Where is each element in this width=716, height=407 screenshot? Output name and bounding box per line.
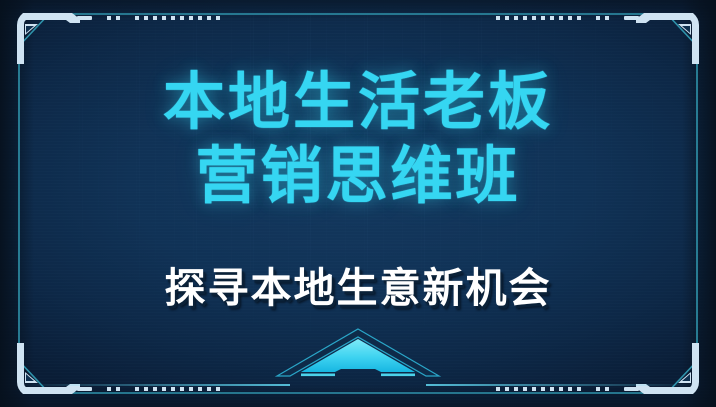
bottom-up-triangle (263, 328, 453, 390)
tick-dot-icon (207, 387, 211, 391)
tick-dot-icon (153, 387, 157, 391)
tick-dot-icon (568, 387, 572, 391)
tick-gap (586, 387, 591, 391)
tick-dot-icon (496, 387, 500, 391)
tick-dash-icon (624, 387, 639, 391)
tick-dot-icon (605, 387, 609, 391)
tick-gap (614, 387, 619, 391)
tick-dot-icon (135, 387, 139, 391)
bracket-shape-icon (630, 337, 702, 399)
tick-dot-icon (116, 387, 120, 391)
poster-title-line-1: 本地生活老板 (0, 66, 716, 138)
poster-canvas: 本地生活老板 营销思维班 探寻本地生意新机会 (0, 0, 716, 407)
tick-row-bottom-left (77, 386, 220, 392)
tick-dot-icon (505, 387, 509, 391)
tick-dot-icon (198, 387, 202, 391)
corner-bracket-bottom-right-icon (630, 337, 702, 399)
tick-gap (125, 387, 130, 391)
tick-row-bottom-right (496, 386, 639, 392)
tick-dot-icon (559, 387, 563, 391)
poster-subtitle: 探寻本地生意新机会 (0, 264, 716, 312)
tick-dash-icon (77, 387, 92, 391)
tick-dot-icon (523, 387, 527, 391)
tick-dot-icon (107, 387, 111, 391)
tick-dot-icon (596, 387, 600, 391)
tick-dot-icon (180, 387, 184, 391)
tick-gap (97, 387, 102, 391)
poster-title-line-2: 营销思维班 (0, 140, 716, 212)
tick-dot-icon (162, 387, 166, 391)
tick-dot-icon (514, 387, 518, 391)
bottom-rail-left (24, 384, 290, 386)
tick-dot-icon (541, 387, 545, 391)
tick-dot-icon (171, 387, 175, 391)
tick-dot-icon (532, 387, 536, 391)
tick-dot-icon (577, 387, 581, 391)
tick-dot-icon (216, 387, 220, 391)
up-triangle-icon (263, 328, 453, 390)
bracket-shape-icon (14, 337, 86, 399)
bottom-rail-right (426, 384, 692, 386)
tick-dot-icon (144, 387, 148, 391)
corner-bracket-bottom-left-icon (14, 337, 86, 399)
poster-content: 本地生活老板 营销思维班 探寻本地生意新机会 (0, 0, 716, 312)
tick-dot-icon (189, 387, 193, 391)
tick-dot-icon (550, 387, 554, 391)
